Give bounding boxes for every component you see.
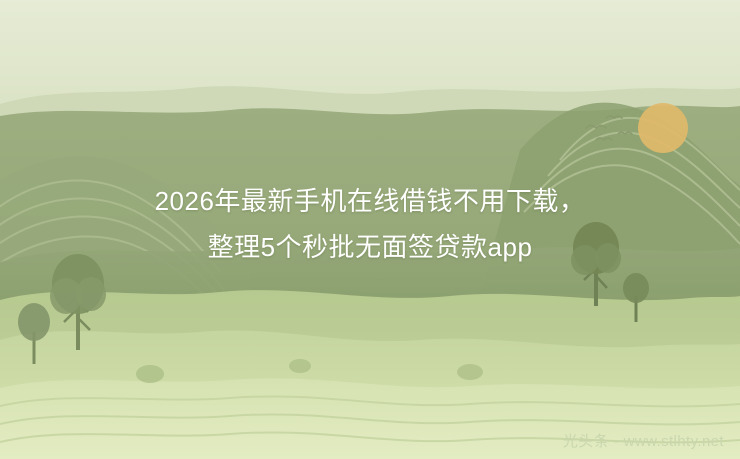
page-title: 2026年最新手机在线借钱不用下载， 整理5个秒批无面签贷款app bbox=[0, 178, 740, 270]
bush-3 bbox=[457, 364, 483, 380]
title-line-1: 2026年最新手机在线借钱不用下载， bbox=[0, 178, 740, 224]
title-line-2: 整理5个秒批无面签贷款app bbox=[0, 224, 740, 270]
sun-circle bbox=[638, 103, 688, 153]
illustration-canvas: 2026年最新手机在线借钱不用下载， 整理5个秒批无面签贷款app 光头条 - … bbox=[0, 0, 740, 459]
bush-2 bbox=[289, 359, 311, 373]
bush-1 bbox=[136, 365, 164, 383]
watermark-text: 光头条 - www.stlhty.net bbox=[563, 430, 724, 451]
